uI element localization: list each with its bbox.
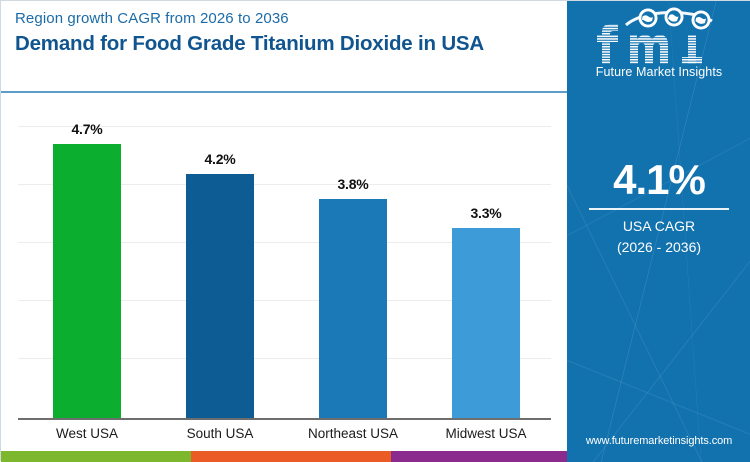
- bar-value-label: 3.8%: [298, 176, 408, 192]
- cagr-stat-caption-region: USA CAGR: [567, 218, 750, 234]
- accent-segment-green: [1, 451, 191, 462]
- bar-value-label: 4.7%: [32, 121, 142, 137]
- chart-header: Region growth CAGR from 2026 to 2036 Dem…: [1, 1, 567, 92]
- stat-divider: [589, 208, 729, 210]
- category-label-northeast-usa: Northeast USA: [288, 426, 418, 441]
- fmi-logo-tagline: Future Market Insights: [567, 65, 750, 79]
- bar-northeast-usa[interactable]: [319, 199, 387, 418]
- cagr-stat-caption-period: (2026 - 2036): [567, 239, 750, 255]
- cagr-stat-value: 4.1%: [567, 156, 750, 204]
- bar-value-label: 3.3%: [431, 205, 541, 221]
- fmi-logo: Future Market Insights: [567, 5, 750, 83]
- chart-subtitle: Region growth CAGR from 2026 to 2036: [15, 10, 289, 27]
- plot-area: 4.7% 4.2% 3.8% 3.3%: [1, 92, 567, 419]
- category-label-south-usa: South USA: [155, 426, 285, 441]
- chart-panel: Region growth CAGR from 2026 to 2036 Dem…: [1, 1, 567, 462]
- bar-south-usa[interactable]: [186, 174, 254, 418]
- bar-value-label: 4.2%: [165, 151, 275, 167]
- bar-midwest-usa[interactable]: [452, 228, 520, 418]
- bar-west-usa[interactable]: [53, 144, 121, 418]
- website-url[interactable]: www.futuremarketinsights.com: [567, 435, 750, 447]
- x-axis-line: [18, 418, 551, 420]
- chart-title: Demand for Food Grade Titanium Dioxide i…: [15, 32, 484, 56]
- category-label-midwest-usa: Midwest USA: [421, 426, 551, 441]
- category-label-west-usa: West USA: [22, 426, 152, 441]
- brand-panel: Future Market Insights 4.1% USA CAGR (20…: [567, 1, 750, 462]
- accent-stripe: [1, 451, 567, 462]
- accent-segment-orange: [191, 451, 391, 462]
- fmi-logo-icon: [596, 7, 722, 65]
- infographic-root: Region growth CAGR from 2026 to 2036 Dem…: [0, 0, 750, 461]
- accent-segment-purple: [391, 451, 567, 462]
